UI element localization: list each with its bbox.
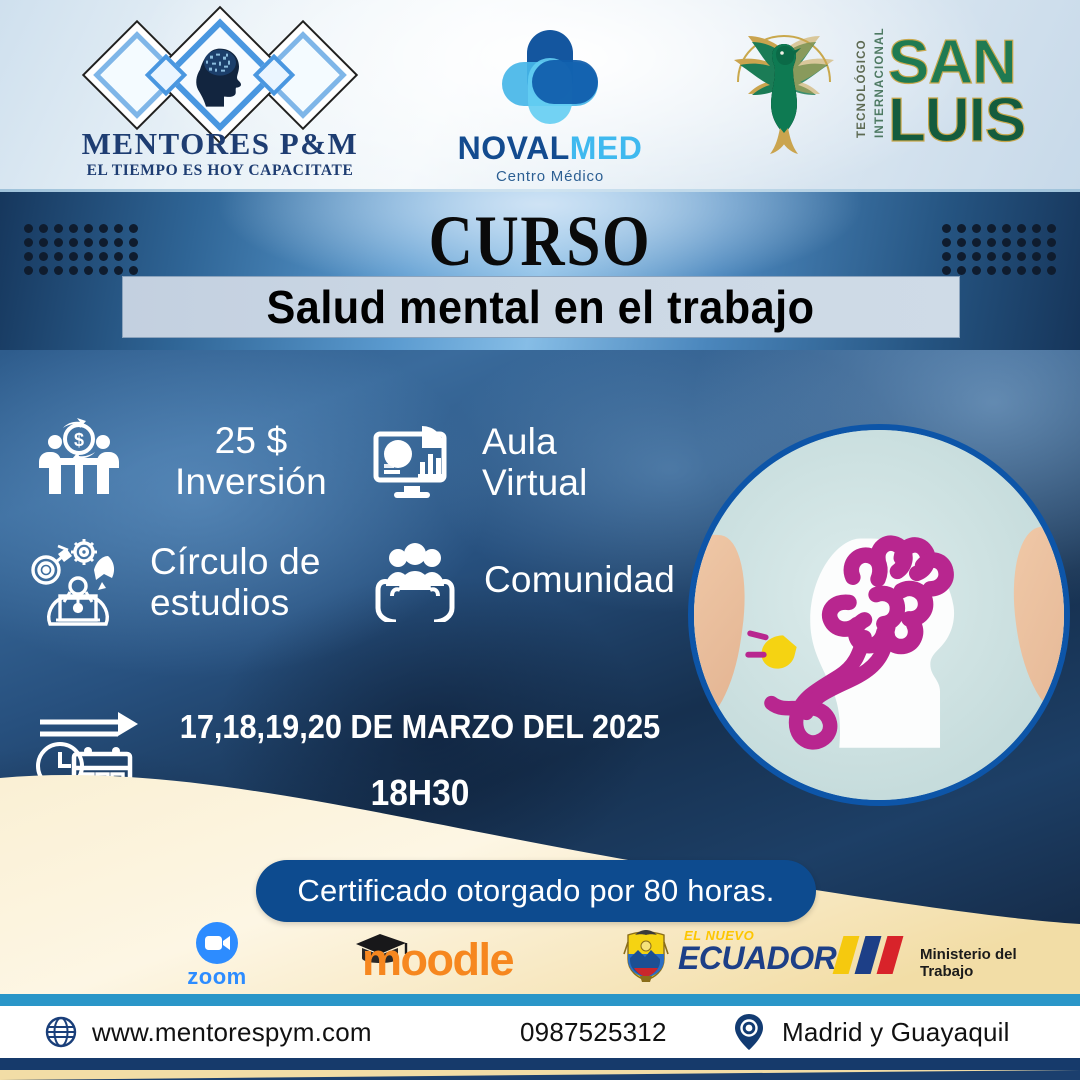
zoom-camera-icon <box>196 922 238 964</box>
header-logo-strip: MENTORES P&M EL TIEMPO ES HOY CAPACITATE… <box>0 0 1080 192</box>
logo-mentores-pym: MENTORES P&M EL TIEMPO ES HOY CAPACITATE <box>60 12 380 182</box>
partner-logos: zoom moodle EL NUEV <box>0 922 1080 994</box>
ecuador-coat-of-arms-icon <box>620 928 672 984</box>
feature-inversion-label: 25 $ Inversión <box>156 420 346 503</box>
logo-novalmed-title-b: MED <box>570 130 643 166</box>
mentores-diamonds-icon <box>60 16 380 134</box>
study-ideas-laptop-icon <box>28 534 128 630</box>
page-title: Salud mental en el trabajo <box>267 280 815 334</box>
logo-novalmed-tagline: Centro Médico <box>430 168 670 185</box>
feature-aula-virtual-label: Aula Virtual <box>482 421 588 504</box>
feature-aula-virtual: Aula Virtual <box>372 420 692 504</box>
feature-circulo-estudios-label: Círculo de estudios <box>150 541 321 624</box>
schedule-dates: 17,18,19,20 DE MARZO DEL 2025 <box>178 708 662 746</box>
feature-comunidad: Comunidad <box>372 538 692 622</box>
logo-mentores-title: MENTORES P&M <box>60 128 380 160</box>
footer-base-decoration <box>0 1070 1080 1080</box>
footer-phone[interactable]: 0987525312 <box>520 1017 667 1048</box>
monitor-chart-icon <box>372 420 456 504</box>
course-title-bar: Salud mental en el trabajo <box>122 276 960 338</box>
logo-novalmed: NOVALMED Centro Médico <box>430 26 670 186</box>
footer-contact-bar: www.mentorespym.com 0987525312 Madrid y … <box>0 1006 1080 1058</box>
handshake-money-icon: $ <box>36 418 122 504</box>
partner-moodle: moodle <box>348 934 528 986</box>
footer-teal-bar <box>0 994 1080 1006</box>
feature-comunidad-label: Comunidad <box>484 559 675 600</box>
logo-sanluis-vertical-2: INTERNACIONAL <box>874 27 886 138</box>
partner-ministerio-label: Ministerio del Trabajo <box>920 946 1020 980</box>
footer-navy-bar <box>0 1058 1080 1070</box>
feature-circulo-estudios: Círculo de estudios <box>28 534 368 630</box>
certificate-label: Certificado otorgado por 80 horas. <box>297 873 774 909</box>
ecuador-flag-icon <box>836 936 902 974</box>
partner-ecuador-word: ECUADOR <box>678 940 836 977</box>
logo-mentores-tagline: EL TIEMPO ES HOY CAPACITATE <box>60 162 380 180</box>
svg-text:$: $ <box>74 430 84 450</box>
course-eyebrow: CURSO <box>81 200 999 283</box>
logo-san-luis: TECNOLÓGICO INTERNACIONAL SAN LUIS <box>710 14 1040 179</box>
footer-website[interactable]: www.mentorespym.com <box>44 1015 372 1049</box>
partner-zoom-label: zoom <box>172 964 262 990</box>
footer-location-label: Madrid y Guayaquil <box>782 1017 1010 1048</box>
brain-head-icon <box>193 45 247 111</box>
map-pin-icon <box>730 1012 768 1052</box>
footer-location[interactable]: Madrid y Guayaquil <box>730 1012 1010 1052</box>
logo-sanluis-vertical-1: TECNOLÓGICO <box>856 39 868 138</box>
footer-phone-label: 0987525312 <box>520 1017 667 1048</box>
globe-icon <box>44 1015 78 1049</box>
course-poster: MENTORES P&M EL TIEMPO ES HOY CAPACITATE… <box>0 0 1080 1080</box>
partner-moodle-label: moodle <box>362 934 513 986</box>
footer-website-label: www.mentorespym.com <box>92 1017 372 1048</box>
logo-sanluis-line-2: LUIS <box>888 94 1025 147</box>
people-in-hands-icon <box>372 538 458 622</box>
phoenix-bird-icon <box>714 20 854 160</box>
partner-zoom: zoom <box>172 922 262 992</box>
medical-cross-icon <box>502 30 598 126</box>
feature-inversion: $ 25 $ Inversión <box>36 418 366 504</box>
certificate-badge: Certificado otorgado por 80 horas. <box>256 860 816 922</box>
logo-sanluis-line-1: SAN <box>888 36 1016 89</box>
partner-ministerio-trabajo: EL NUEVO ECUADOR Ministerio del Trabajo <box>620 926 1020 988</box>
logo-novalmed-title-a: NOVAL <box>458 130 570 166</box>
logo-novalmed-title: NOVALMED <box>430 130 670 167</box>
